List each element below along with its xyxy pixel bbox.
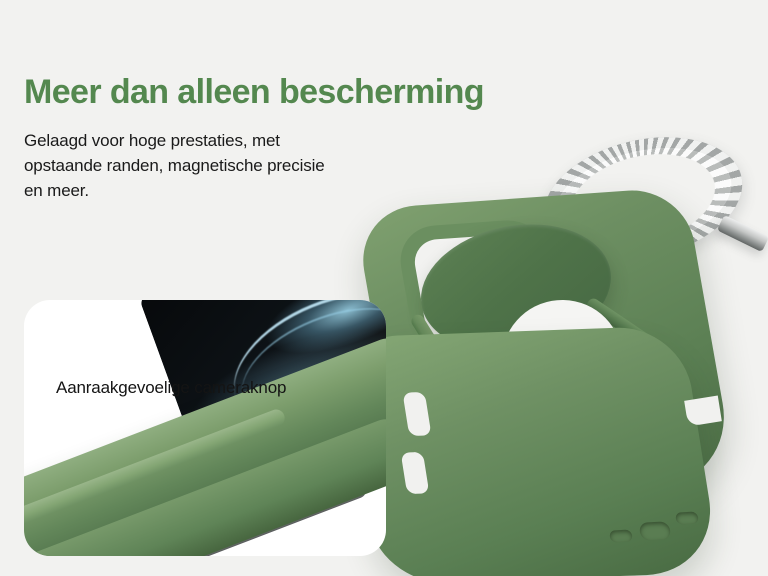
copy-block: Meer dan alleen bescherming Gelaagd voor… <box>24 72 444 203</box>
product-feature-page: Meer dan alleen bescherming Gelaagd voor… <box>0 0 768 576</box>
liner-corner-notch <box>684 396 722 427</box>
speaker-cutout-right <box>675 511 699 524</box>
feature-card-photo <box>24 300 386 556</box>
speaker-cutout-left <box>609 529 633 542</box>
charging-port-cutout <box>639 521 672 540</box>
page-subtitle: Gelaagd voor hoge prestaties, met opstaa… <box>24 128 344 203</box>
magsafe-magnet-bar <box>717 215 768 252</box>
feature-card-caption: Aanraakgevoelige cameraknop <box>56 376 286 399</box>
feature-card: Aanraakgevoelige cameraknop <box>24 300 386 556</box>
page-title: Meer dan alleen bescherming <box>24 72 444 112</box>
